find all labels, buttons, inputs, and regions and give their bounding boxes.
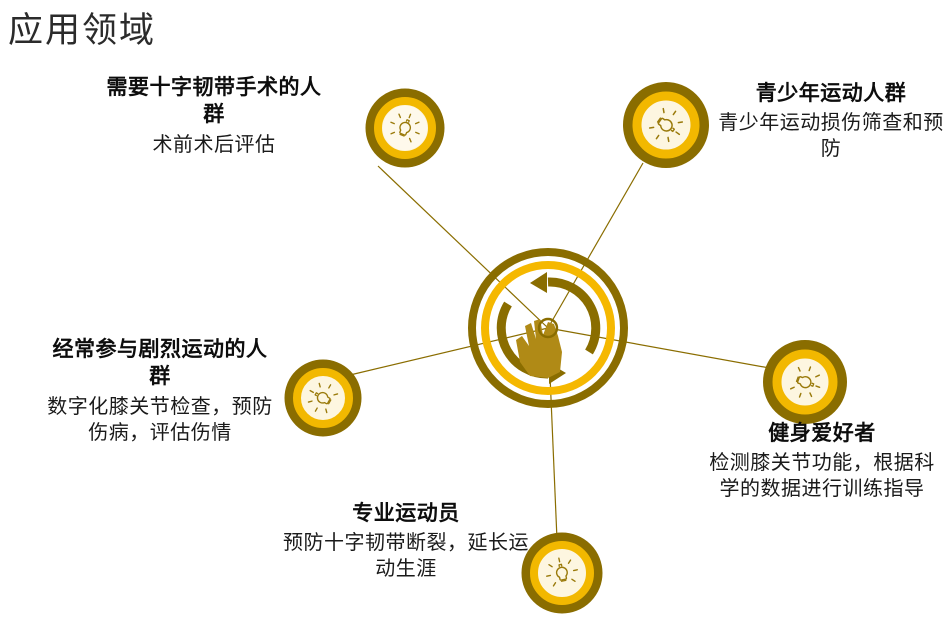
node-fitness[interactable] xyxy=(768,345,842,419)
connector-youth xyxy=(548,163,643,328)
label-desc-athlete: 预防十字韧带断裂，延长运动生涯 xyxy=(282,530,530,582)
label-desc-youth: 青少年运动损伤筛查和预防 xyxy=(718,110,944,162)
label-title-athlete: 专业运动员 xyxy=(282,500,530,527)
connector-fitness xyxy=(548,328,775,369)
node-athlete[interactable] xyxy=(526,537,598,609)
label-title-intense-exercise: 经常参与剧烈运动的人群 xyxy=(44,336,276,391)
label-title-fitness: 健身爱好者 xyxy=(700,420,944,447)
label-block-athlete: 专业运动员 预防十字韧带断裂，延长运动生涯 xyxy=(282,500,530,582)
node-surgery[interactable] xyxy=(370,93,440,163)
label-block-intense-exercise: 经常参与剧烈运动的人群 数字化膝关节检查，预防伤病，评估伤情 xyxy=(44,336,276,446)
node-intense-exercise[interactable] xyxy=(289,364,357,432)
connector-surgery xyxy=(378,166,548,328)
label-desc-surgery: 术前术后评估 xyxy=(96,132,332,158)
node-youth[interactable] xyxy=(628,87,704,163)
slide-canvas: 应用领域 xyxy=(0,0,951,635)
label-title-surgery: 需要十字韧带手术的人群 xyxy=(96,74,332,129)
label-block-fitness: 健身爱好者 检测膝关节功能，根据科学的数据进行训练指导 xyxy=(700,420,944,502)
label-block-surgery: 需要十字韧带手术的人群 术前术后评估 xyxy=(96,74,332,158)
label-block-youth: 青少年运动人群 青少年运动损伤筛查和预防 xyxy=(718,80,944,162)
label-desc-intense-exercise: 数字化膝关节检查，预防伤病，评估伤情 xyxy=(44,394,276,446)
label-desc-fitness: 检测膝关节功能，根据科学的数据进行训练指导 xyxy=(700,450,944,502)
label-title-youth: 青少年运动人群 xyxy=(718,80,944,107)
hub-refresh-hand-icon[interactable] xyxy=(472,252,624,404)
